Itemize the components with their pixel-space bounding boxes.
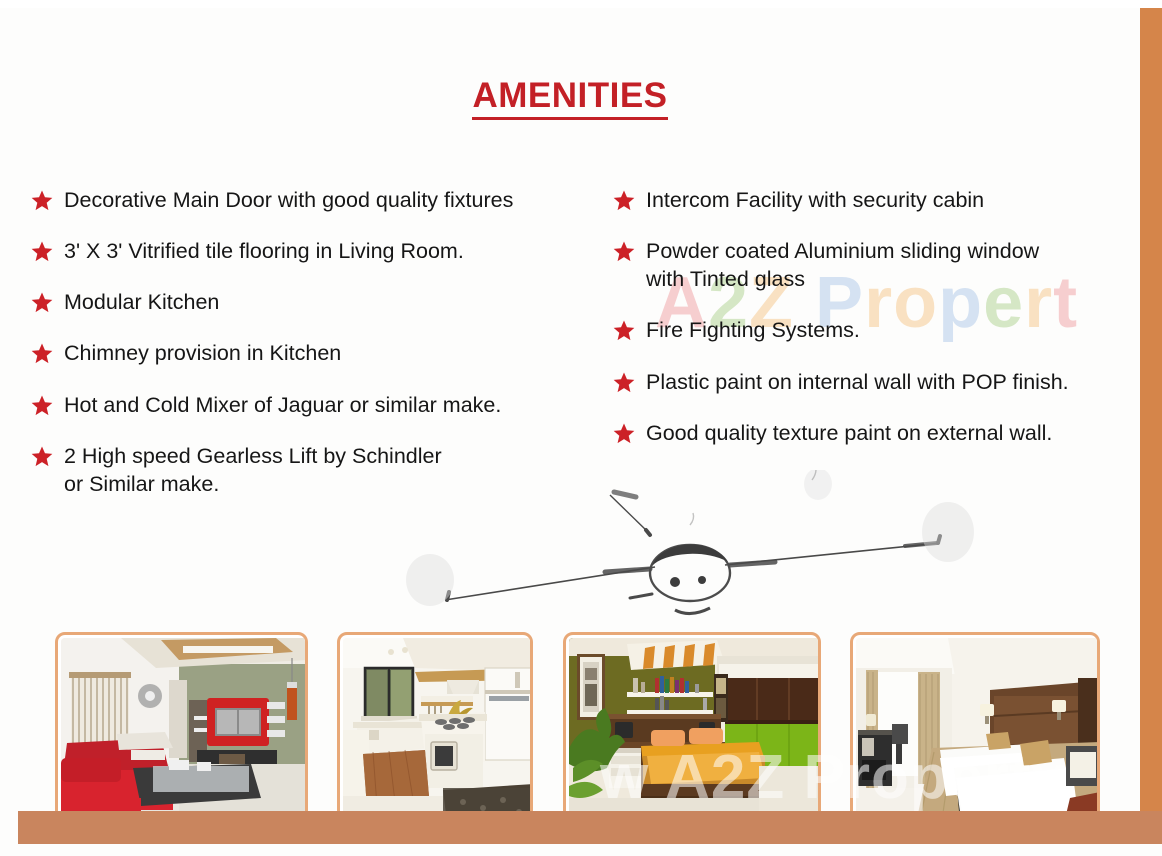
star-bullet-icon <box>612 319 638 343</box>
amenity-item: Modular Kitchen <box>30 288 590 316</box>
amenities-slide: AMENITIES A2Z Propert <box>0 0 1162 856</box>
amenity-text: Plastic paint on internal wall with POP … <box>646 368 1069 396</box>
page-title: AMENITIES <box>472 78 667 120</box>
star-bullet-icon <box>612 240 638 264</box>
amenity-item: Powder coated Aluminium sliding window w… <box>612 237 1124 293</box>
amenity-item: 3' X 3' Vitrified tile flooring in Livin… <box>30 237 590 265</box>
amenity-text: Hot and Cold Mixer of Jaguar or similar … <box>64 391 501 419</box>
amenity-text: Powder coated Aluminium sliding window w… <box>646 237 1039 293</box>
thumbnail-strip <box>55 632 1100 823</box>
amenity-text: Good quality texture paint on external w… <box>646 419 1052 447</box>
bottom-accent-bar <box>18 811 1162 844</box>
star-bullet-icon <box>30 189 56 213</box>
amenity-text: Chimney provision in Kitchen <box>64 339 341 367</box>
amenity-item: Plastic paint on internal wall with POP … <box>612 368 1124 396</box>
star-bullet-icon <box>30 445 56 469</box>
amenity-item: 2 High speed Gearless Lift by Schindler … <box>30 442 590 498</box>
star-bullet-icon <box>30 342 56 366</box>
star-bullet-icon <box>612 422 638 446</box>
thumbnail-kitchen[interactable] <box>337 632 533 823</box>
page-title-wrap: AMENITIES <box>0 78 1140 120</box>
amenity-item: Good quality texture paint on external w… <box>612 419 1124 447</box>
right-accent-bar <box>1140 8 1162 820</box>
amenity-text: 2 High speed Gearless Lift by Schindler … <box>64 442 442 498</box>
amenity-text: Fire Fighting Systems. <box>646 316 860 344</box>
top-margin <box>0 0 1162 8</box>
amenity-item: Intercom Facility with security cabin <box>612 186 1124 214</box>
star-bullet-icon <box>30 240 56 264</box>
star-bullet-icon <box>30 291 56 315</box>
amenity-text: Decorative Main Door with good quality f… <box>64 186 513 214</box>
star-bullet-icon <box>612 189 638 213</box>
star-bullet-icon <box>30 394 56 418</box>
amenity-item: Chimney provision in Kitchen <box>30 339 590 367</box>
amenity-item: Decorative Main Door with good quality f… <box>30 186 590 214</box>
amenities-left-column: Decorative Main Door with good quality f… <box>30 186 590 521</box>
amenities-right-column: Intercom Facility with security cabin Po… <box>612 186 1124 470</box>
amenity-text: 3' X 3' Vitrified tile flooring in Livin… <box>64 237 464 265</box>
amenity-item: Fire Fighting Systems. <box>612 316 1124 344</box>
amenity-item: Hot and Cold Mixer of Jaguar or similar … <box>30 391 590 419</box>
amenity-text: Modular Kitchen <box>64 288 219 316</box>
thumbnail-living-room[interactable] <box>55 632 308 823</box>
thumbnail-bedroom-green[interactable] <box>563 632 821 823</box>
star-bullet-icon <box>612 371 638 395</box>
amenity-text: Intercom Facility with security cabin <box>646 186 984 214</box>
thumbnail-bedroom-hotel[interactable] <box>850 632 1100 823</box>
